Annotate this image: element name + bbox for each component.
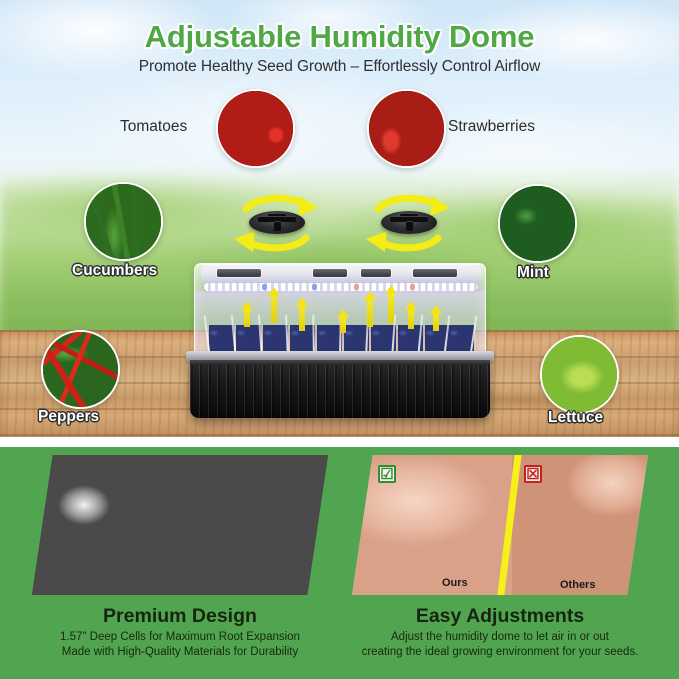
strawberries-photo-icon [367, 89, 446, 168]
comparison-label-ours: Ours [442, 577, 468, 589]
led-light-strip [204, 283, 478, 291]
mint-photo-icon [498, 184, 577, 263]
check-icon: ☑ [378, 465, 396, 483]
plant-label-cucumbers: Cucumbers [72, 262, 157, 280]
plant-label-peppers: Peppers [38, 408, 99, 426]
page-title: Adjustable Humidity Dome [0, 19, 679, 55]
plant-label-tomatoes: Tomatoes [120, 118, 187, 136]
peppers-photo-icon [41, 330, 120, 409]
feature-line-premium-2: Made with High-Quality Materials for Dur… [15, 645, 345, 660]
feature-title-easy-adjustments: Easy Adjustments [350, 605, 650, 628]
humidity-dome [194, 263, 486, 355]
feature-line-easy-2: creating the ideal growing environment f… [335, 645, 665, 660]
feature-line-easy-1: Adjust the humidity dome to let air in o… [335, 630, 665, 645]
cucumbers-photo-icon [84, 182, 163, 261]
features-section: ☑ ☒ Ours Others Premium Design 1.57" Dee… [0, 447, 679, 679]
dome-top-lid [201, 265, 481, 282]
vent-knob-right [360, 190, 456, 254]
seed-starter-tray-with-humidity-dome-icon [178, 253, 501, 425]
tomatoes-photo-icon [216, 89, 295, 168]
plant-label-mint: Mint [517, 264, 549, 282]
lettuce-photo-icon [540, 335, 619, 414]
plant-label-lettuce: Lettuce [548, 409, 603, 427]
cross-icon: ☒ [524, 465, 542, 483]
dome-comparison-photo-icon: ☑ ☒ Ours Others [352, 455, 648, 595]
vent-knob-left [228, 190, 324, 254]
comparison-label-others: Others [560, 579, 595, 591]
feature-line-premium-1: 1.57" Deep Cells for Maximum Root Expans… [15, 630, 345, 645]
plant-label-strawberries: Strawberries [448, 118, 535, 136]
tray-base [190, 360, 490, 418]
hero-section: Adjustable Humidity Dome Promote Healthy… [0, 0, 679, 437]
feature-title-premium-design: Premium Design [30, 605, 330, 628]
tray-cell-closeup-photo-icon [32, 455, 328, 595]
comparison-ours-half [352, 455, 512, 595]
page-subtitle: Promote Healthy Seed Growth – Effortless… [0, 58, 679, 76]
